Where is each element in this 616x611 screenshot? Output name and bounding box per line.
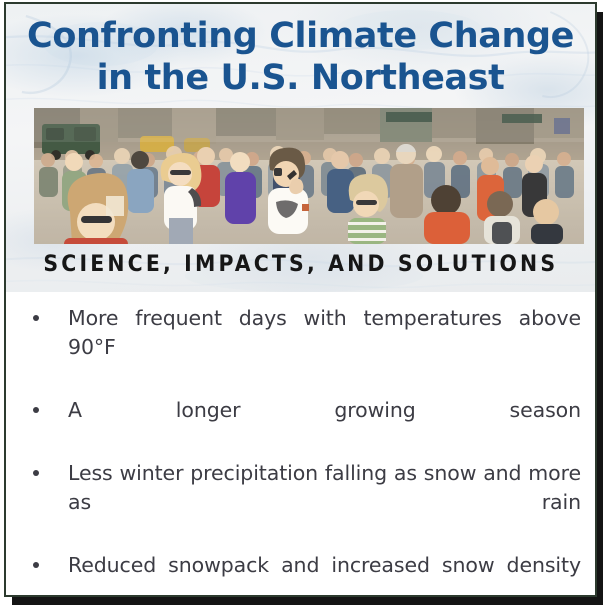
list-item: Reduced snowpack and increased snow dens… xyxy=(28,551,581,597)
list-item: More frequent days with temperatures abo… xyxy=(28,304,581,391)
slide-card: Confronting Climate Change in the U.S. N… xyxy=(4,2,597,597)
crowd-photo-illustration xyxy=(34,108,584,244)
bullets-panel: More frequent days with temperatures abo… xyxy=(6,292,595,595)
bullet-dot-icon xyxy=(33,315,39,321)
list-item-label: Reduced snowpack and increased snow dens… xyxy=(68,553,581,597)
bullet-dot-icon xyxy=(33,470,39,476)
subtitle-text: SCIENCE, IMPACTS, AND SOLUTIONS xyxy=(43,250,558,280)
bullet-dot-icon xyxy=(33,562,39,568)
page-title: Confronting Climate Change in the U.S. N… xyxy=(6,15,595,99)
list-item: Less winter precipitation falling as sno… xyxy=(28,459,581,546)
list-item: A longer growing season xyxy=(28,396,581,454)
title-line-2: in the U.S. Northeast xyxy=(6,57,595,99)
bullet-list: More frequent days with temperatures abo… xyxy=(6,292,595,597)
bullet-dot-icon xyxy=(33,407,39,413)
subtitle: SCIENCE, IMPACTS, AND SOLUTIONS xyxy=(6,250,595,280)
list-item-label: More frequent days with temperatures abo… xyxy=(68,306,581,388)
list-item-label: A longer growing season xyxy=(68,398,581,451)
list-item-label: Less winter precipitation falling as sno… xyxy=(68,461,581,543)
city-crowd-photo xyxy=(34,108,584,244)
title-line-1: Confronting Climate Change xyxy=(6,15,595,57)
